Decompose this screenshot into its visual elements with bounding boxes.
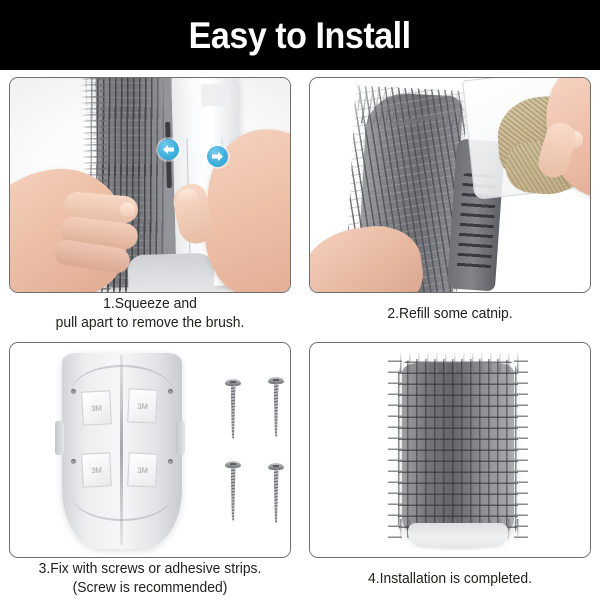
brush-foot (127, 253, 214, 293)
arrow-left-icon (158, 139, 179, 160)
screw-hole (71, 459, 76, 464)
adhesive-strip: 3M (127, 388, 158, 423)
screw-shaft (231, 467, 236, 521)
step-caption-1-line-1: 1.Squeeze and (103, 295, 197, 314)
step-image-1 (9, 77, 291, 293)
step-caption-4: 4.Installation is completed. (315, 558, 586, 600)
step-caption-4-line-1: 4.Installation is completed. (368, 570, 532, 589)
page-title: Easy to Install (189, 17, 411, 54)
step-image-4 (309, 342, 591, 558)
step-caption-1-line-2: pull apart to remove the brush. (56, 314, 245, 333)
step-card-4: 4.Installation is completed. (300, 335, 600, 600)
screw-head (268, 377, 284, 384)
screw (225, 379, 241, 439)
screw-hole (71, 389, 76, 394)
screw-hole (168, 459, 173, 464)
step-image-2 (309, 77, 591, 293)
brush-spike-silhouette (388, 355, 528, 543)
screw (268, 463, 284, 523)
screw-shaft (274, 383, 279, 437)
bracket-center-seam (120, 355, 123, 545)
step-image-3: 3M 3M 3M 3M (9, 342, 291, 558)
step-caption-1: 1.Squeeze and pull apart to remove the b… (15, 293, 286, 335)
bracket-tab-right (176, 421, 185, 455)
base-label-patch (201, 84, 232, 107)
step-card-1: 1.Squeeze and pull apart to remove the b… (0, 70, 300, 335)
step-caption-3-line-2: (Screw is recommended) (73, 579, 228, 598)
brush-spikes-top (396, 351, 520, 373)
adhesive-strip: 3M (81, 390, 112, 425)
thumbnail (177, 187, 199, 208)
adhesive-strip: 3M (81, 452, 112, 487)
screw-head (225, 379, 241, 386)
screw-shaft (231, 385, 236, 439)
arrow-right-icon (207, 146, 228, 167)
brush-spike-silhouette (357, 83, 463, 128)
brush-base (408, 523, 508, 547)
adhesive-strip: 3M (127, 452, 158, 487)
screw-hole (168, 389, 173, 394)
screw-head (225, 461, 241, 468)
step-card-3: 3M 3M 3M 3M 3.Fix with screws or adhe (0, 335, 300, 600)
fingernail (119, 202, 135, 217)
step-caption-3-line-1: 3.Fix with screws or adhesive strips. (39, 560, 262, 579)
screw (225, 461, 241, 521)
screw (268, 377, 284, 437)
step-card-2: 2.Refill some catnip. (300, 70, 600, 335)
bracket-tab-left (55, 421, 64, 455)
steps-grid: 1.Squeeze and pull apart to remove the b… (0, 70, 600, 600)
screw-shaft (274, 469, 279, 523)
step-caption-3: 3.Fix with screws or adhesive strips. (S… (15, 558, 286, 600)
header-banner: Easy to Install (0, 0, 600, 70)
step-caption-2: 2.Refill some catnip. (315, 293, 586, 335)
step-caption-2-line-1: 2.Refill some catnip. (387, 305, 512, 324)
screw-head (268, 463, 284, 470)
